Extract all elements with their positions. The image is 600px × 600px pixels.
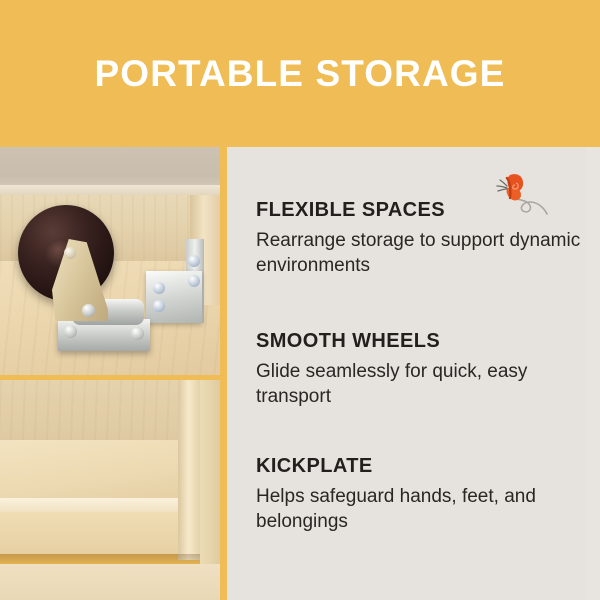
infographic-page: PORTABLE STORAGE xyxy=(0,0,600,600)
plate-bolt-icon xyxy=(82,304,95,317)
feature-body: Glide seamlessly for quick, easy transpo… xyxy=(256,359,586,410)
page-title: PORTABLE STORAGE xyxy=(95,55,506,92)
feature-title: SMOOTH WHEELS xyxy=(256,330,586,352)
butterfly-icon xyxy=(488,168,552,224)
butterfly-decoration xyxy=(488,168,552,224)
caster-wheel-photo xyxy=(0,147,220,375)
vertical-divider xyxy=(220,147,227,600)
header-banner: PORTABLE STORAGE xyxy=(0,0,600,147)
feature-body: Helps safeguard hands, feet, and belongi… xyxy=(256,484,586,535)
feature-item: SMOOTH WHEELS Glide seamlessly for quick… xyxy=(256,330,586,410)
photo-column xyxy=(0,147,220,600)
photo-wall-trim xyxy=(0,185,220,195)
photo-floor xyxy=(0,564,220,600)
bracket-bolt-icon xyxy=(188,255,200,267)
kickplate-photo xyxy=(0,380,220,600)
plate-bolt-icon xyxy=(131,327,144,340)
bracket-bolt-icon xyxy=(153,300,165,312)
photo-kickplate-face xyxy=(0,512,186,554)
bracket-bolt-icon xyxy=(153,282,165,294)
plate-bolt-icon xyxy=(64,325,77,338)
feature-body: Rearrange storage to support dynamic env… xyxy=(256,228,586,279)
feature-title: KICKPLATE xyxy=(256,455,586,477)
feature-item: KICKPLATE Helps safeguard hands, feet, a… xyxy=(256,455,586,535)
fork-bolt-icon xyxy=(64,247,76,259)
panel-right-edge xyxy=(586,147,600,600)
bracket-bolt-icon xyxy=(188,275,200,287)
